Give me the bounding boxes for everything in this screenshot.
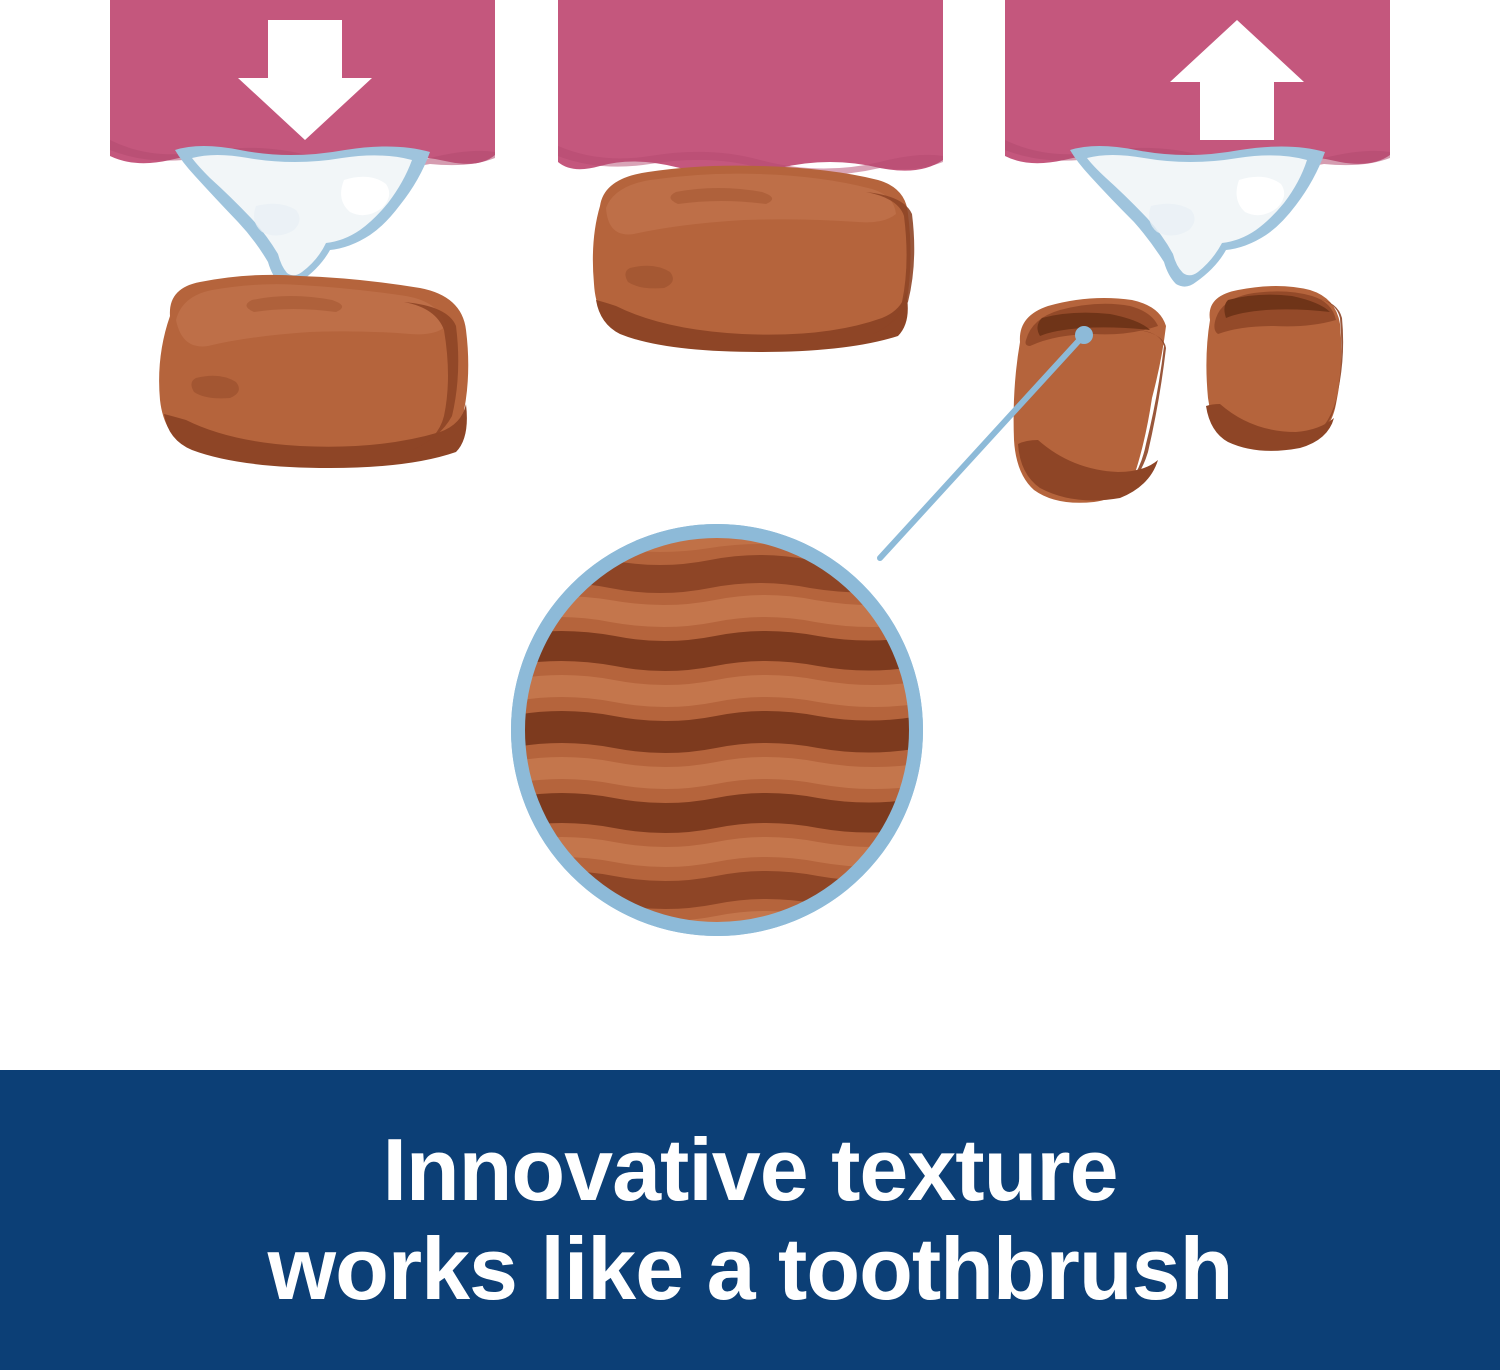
- chew-piece-2: [593, 166, 914, 352]
- caption-line-2: works like a toothbrush: [268, 1220, 1233, 1319]
- chew-piece-1: [159, 275, 468, 468]
- tooth-1: [175, 146, 430, 287]
- caption-line-1: Innovative texture: [382, 1121, 1117, 1220]
- chew-cleaning-illustration: [0, 0, 1500, 1050]
- gum-block-2: [558, 0, 943, 175]
- gum-block-3: [1005, 0, 1390, 170]
- tooth-3: [1070, 146, 1325, 287]
- caption-banner: Innovative texture works like a toothbru…: [0, 1070, 1500, 1370]
- panel-bite-down: [110, 0, 495, 468]
- diagram-root: Innovative texture works like a toothbru…: [0, 0, 1500, 1370]
- chew-piece-3-right: [1206, 286, 1343, 451]
- panel-pull-up: [1005, 0, 1390, 503]
- panel-chew-contact: [558, 0, 943, 352]
- texture-magnifier: [510, 524, 930, 941]
